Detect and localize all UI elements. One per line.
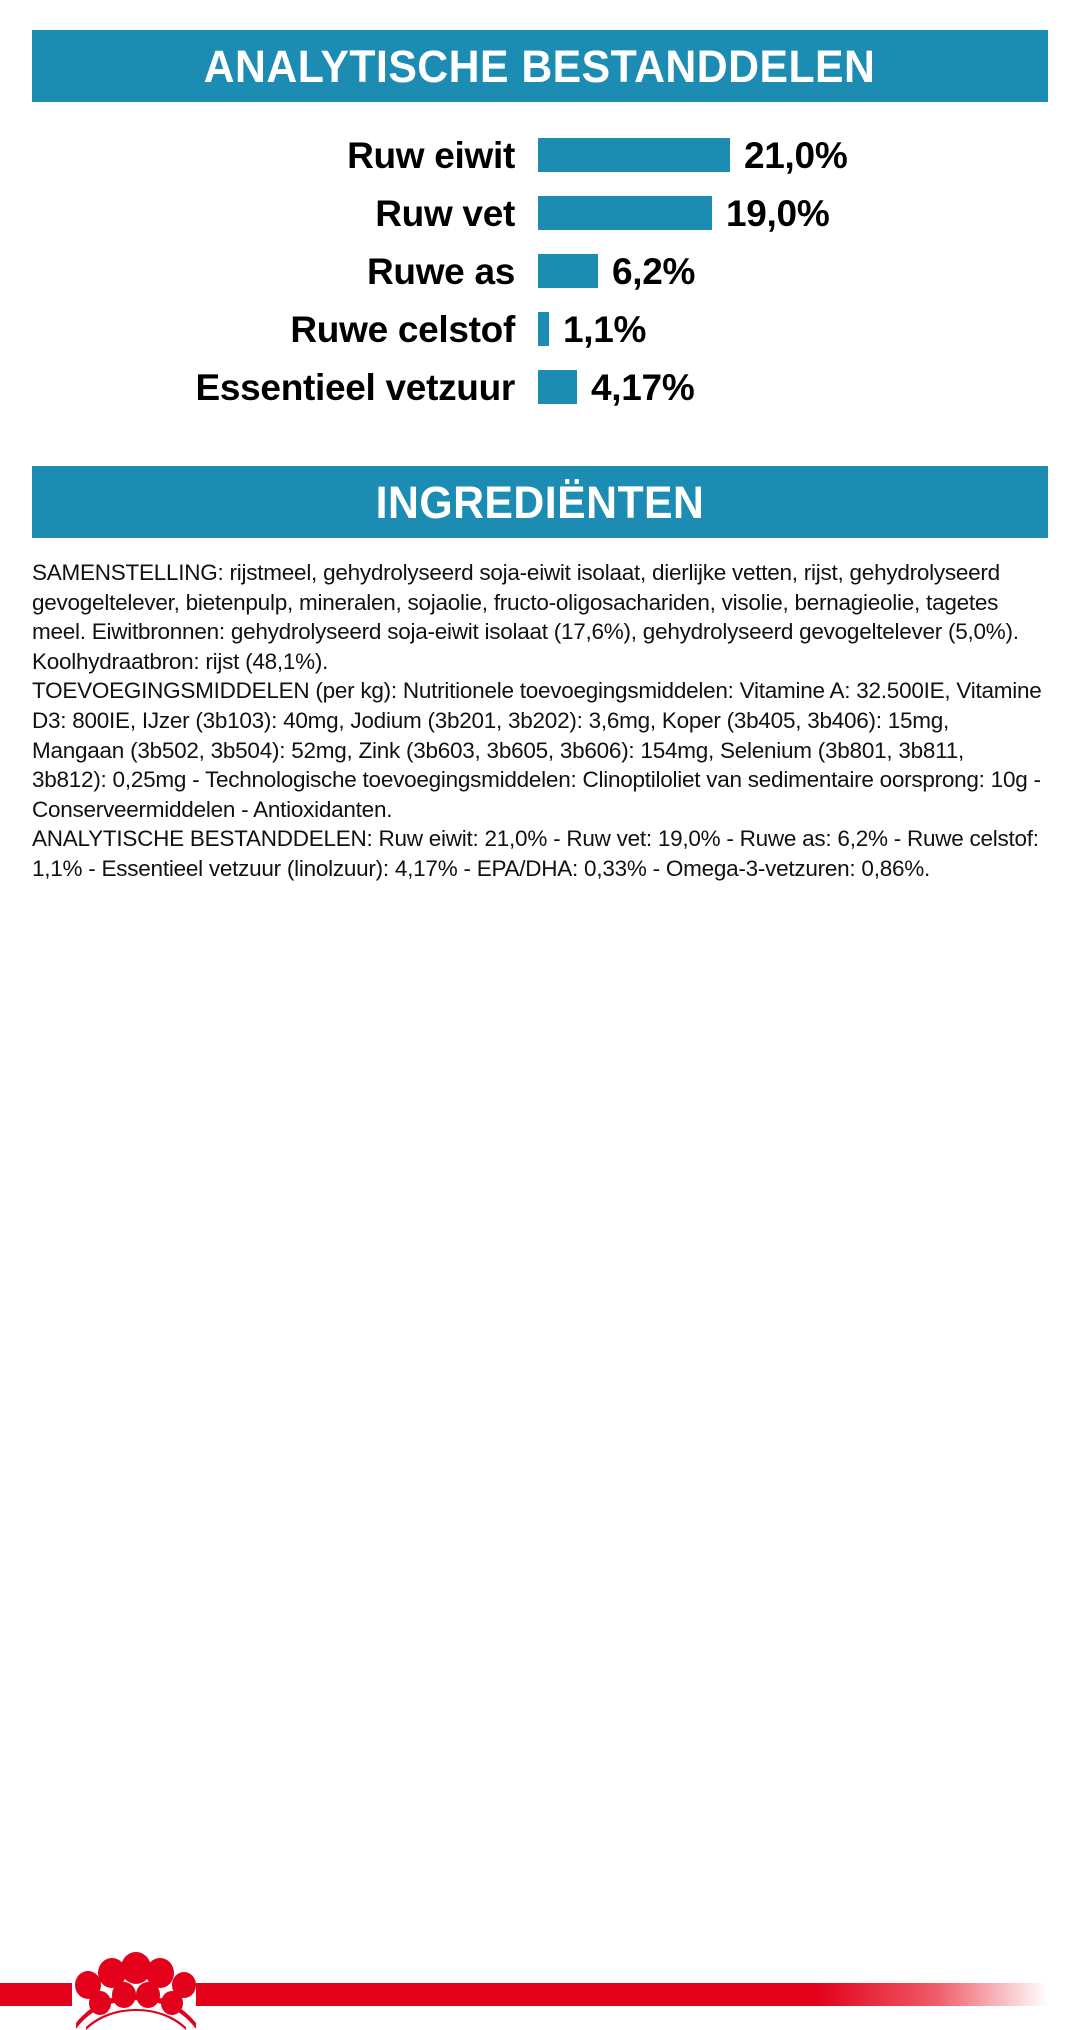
chart-row: Ruw eiwit 21,0% <box>0 126 1080 184</box>
chart-bar-group: 4,17% <box>538 358 694 416</box>
chart-bar <box>538 370 577 404</box>
chart-bar-group: 6,2% <box>538 242 695 300</box>
chart-bar-group: 19,0% <box>538 184 829 242</box>
footer-rule-left <box>0 1983 72 2006</box>
section-header-analytical-title: ANALYTISCHE BESTANDDELEN <box>204 44 876 89</box>
ingredients-paragraph-analytical: ANALYTISCHE BESTANDDELEN: Ruw eiwit: 21,… <box>32 824 1044 883</box>
ingredients-body: SAMENSTELLING: rijstmeel, gehydrolyseerd… <box>32 558 1044 884</box>
footer-rule-right <box>196 1983 1056 2006</box>
chart-bar-label: Ruw eiwit <box>0 137 515 174</box>
chart-bar-label: Essentieel vetzuur <box>0 369 515 406</box>
chart-bar-group: 1,1% <box>538 300 646 358</box>
chart-row: Ruw vet 19,0% <box>0 184 1080 242</box>
chart-bar-value: 21,0% <box>744 137 847 174</box>
chart-bar-value: 6,2% <box>612 253 695 290</box>
brand-footer <box>0 970 1080 1080</box>
chart-row: Ruwe as 6,2% <box>0 242 1080 300</box>
product-info-page: ANALYTISCHE BESTANDDELEN Ruw eiwit 21,0%… <box>0 0 1080 1080</box>
analytical-constituents-chart: Ruw eiwit 21,0% Ruw vet 19,0% Ruwe as 6,… <box>0 126 1080 436</box>
chart-bar-label: Ruwe as <box>0 253 515 290</box>
section-header-analytical: ANALYTISCHE BESTANDDELEN <box>32 30 1048 102</box>
chart-row: Essentieel vetzuur 4,17% <box>0 358 1080 416</box>
chart-bar <box>538 312 549 346</box>
section-header-ingredients: INGREDIËNTEN <box>32 466 1048 538</box>
chart-bar <box>538 254 598 288</box>
chart-bar-value: 4,17% <box>591 369 694 406</box>
chart-bar-group: 21,0% <box>538 126 847 184</box>
section-header-ingredients-title: INGREDIËNTEN <box>376 480 705 525</box>
chart-bar-value: 19,0% <box>726 195 829 232</box>
royal-canin-crown-icon <box>72 1945 196 2030</box>
chart-bar-label: Ruw vet <box>0 195 515 232</box>
chart-bar-value: 1,1% <box>563 311 646 348</box>
ingredients-paragraph-additives: TOEVOEGINGSMIDDELEN (per kg): Nutritione… <box>32 676 1044 824</box>
chart-bar <box>538 138 730 172</box>
ingredients-paragraph-composition: SAMENSTELLING: rijstmeel, gehydrolyseerd… <box>32 558 1044 676</box>
chart-row: Ruwe celstof 1,1% <box>0 300 1080 358</box>
chart-bar <box>538 196 712 230</box>
chart-bar-label: Ruwe celstof <box>0 311 515 348</box>
